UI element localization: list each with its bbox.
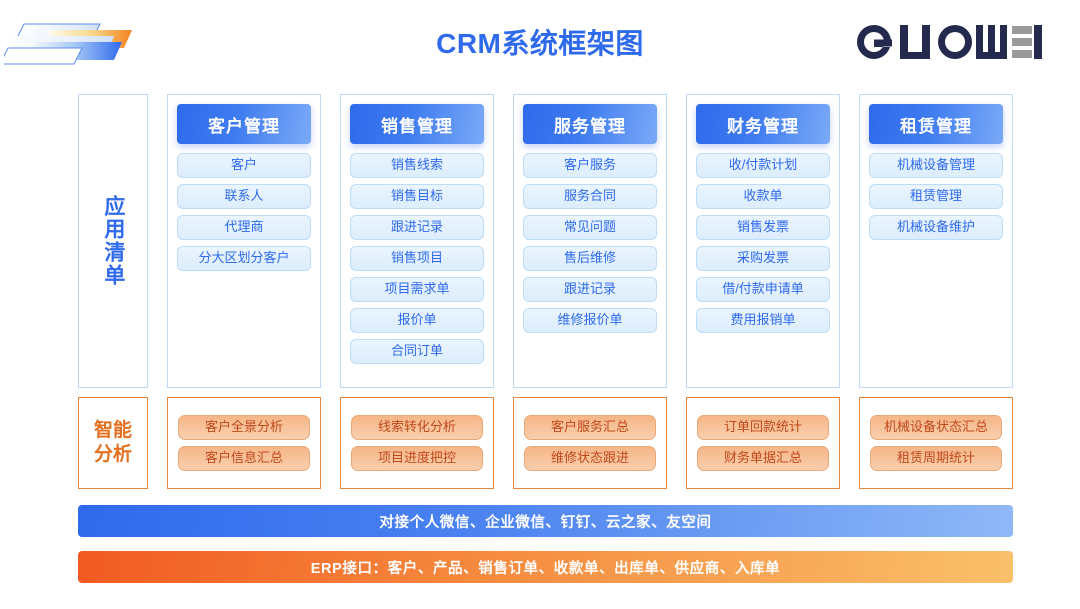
analysis-column-sales[interactable]: 线索转化分析 项目进度把控 xyxy=(340,397,494,489)
module-header-sales[interactable]: 销售管理 xyxy=(350,104,484,144)
corp-logo-guowei xyxy=(852,21,1044,63)
row-label-application-list: 应用清单 xyxy=(78,94,148,388)
smart-analysis-row: 智能 分析 客户全景分析 客户信息汇总 线索转化分析 项目进度把控 客户服务汇总… xyxy=(78,397,1013,489)
module-header-service[interactable]: 服务管理 xyxy=(523,104,657,144)
analysis-item[interactable]: 财务单据汇总 xyxy=(697,446,829,471)
module-item[interactable]: 费用报销单 xyxy=(696,308,830,333)
analysis-column-customer[interactable]: 客户全景分析 客户信息汇总 xyxy=(167,397,321,489)
module-column-customer[interactable]: 客户管理 客户 联系人 代理商 分大区划分客户 xyxy=(167,94,321,388)
module-item[interactable]: 销售目标 xyxy=(350,184,484,209)
framework-grid: 应用清单 客户管理 客户 联系人 代理商 分大区划分客户 销售管理 销售线索 销… xyxy=(78,94,1013,489)
module-column-finance[interactable]: 财务管理 收/付款计划 收款单 销售发票 采购发票 借/付款申请单 费用报销单 xyxy=(686,94,840,388)
module-item[interactable]: 收款单 xyxy=(696,184,830,209)
module-item[interactable]: 借/付款申请单 xyxy=(696,277,830,302)
module-item[interactable]: 收/付款计划 xyxy=(696,153,830,178)
analysis-item[interactable]: 订单回款统计 xyxy=(697,415,829,440)
analysis-item[interactable]: 项目进度把控 xyxy=(351,446,483,471)
module-item[interactable]: 联系人 xyxy=(177,184,311,209)
analysis-item[interactable]: 客户信息汇总 xyxy=(178,446,310,471)
module-item[interactable]: 跟进记录 xyxy=(523,277,657,302)
module-item[interactable]: 采购发票 xyxy=(696,246,830,271)
analysis-column-service[interactable]: 客户服务汇总 维修状态跟进 xyxy=(513,397,667,489)
module-item[interactable]: 销售发票 xyxy=(696,215,830,240)
module-item[interactable]: 机械设备维护 xyxy=(869,215,1003,240)
row-label-smart-analysis-text: 智能 分析 xyxy=(79,419,147,467)
banner-social-integrations: 对接个人微信、企业微信、钉钉、云之家、友空间 xyxy=(78,505,1013,537)
row-label-smart-analysis-line2: 分析 xyxy=(79,443,147,467)
module-item[interactable]: 跟进记录 xyxy=(350,215,484,240)
module-item[interactable]: 代理商 xyxy=(177,215,311,240)
analysis-item[interactable]: 租赁周期统计 xyxy=(870,446,1002,471)
module-item[interactable]: 报价单 xyxy=(350,308,484,333)
module-item[interactable]: 客户 xyxy=(177,153,311,178)
module-item[interactable]: 项目需求单 xyxy=(350,277,484,302)
crm-framework-diagram: CRM系统框架图 xyxy=(0,0,1080,609)
page-header: CRM系统框架图 xyxy=(0,0,1080,86)
module-item[interactable]: 合同订单 xyxy=(350,339,484,364)
analysis-item[interactable]: 机械设备状态汇总 xyxy=(870,415,1002,440)
banner-erp-interface: ERP接口：客户、产品、销售订单、收款单、出库单、供应商、入库单 xyxy=(78,551,1013,583)
row-label-smart-analysis: 智能 分析 xyxy=(78,397,148,489)
analysis-item[interactable]: 线索转化分析 xyxy=(351,415,483,440)
module-item[interactable]: 销售项目 xyxy=(350,246,484,271)
module-item[interactable]: 常见问题 xyxy=(523,215,657,240)
analysis-item[interactable]: 客户全景分析 xyxy=(178,415,310,440)
module-item[interactable]: 客户服务 xyxy=(523,153,657,178)
module-column-leasing[interactable]: 租赁管理 机械设备管理 租赁管理 机械设备维护 xyxy=(859,94,1013,388)
module-header-finance[interactable]: 财务管理 xyxy=(696,104,830,144)
module-item[interactable]: 机械设备管理 xyxy=(869,153,1003,178)
analysis-column-finance[interactable]: 订单回款统计 财务单据汇总 xyxy=(686,397,840,489)
module-item[interactable]: 维修报价单 xyxy=(523,308,657,333)
module-item[interactable]: 分大区划分客户 xyxy=(177,246,311,271)
module-column-service[interactable]: 服务管理 客户服务 服务合同 常见问题 售后维修 跟进记录 维修报价单 xyxy=(513,94,667,388)
application-list-row: 应用清单 客户管理 客户 联系人 代理商 分大区划分客户 销售管理 销售线索 销… xyxy=(78,94,1013,388)
analysis-column-leasing[interactable]: 机械设备状态汇总 租赁周期统计 xyxy=(859,397,1013,489)
module-column-sales[interactable]: 销售管理 销售线索 销售目标 跟进记录 销售项目 项目需求单 报价单 合同订单 xyxy=(340,94,494,388)
row-label-smart-analysis-line1: 智能 xyxy=(79,419,147,443)
module-item[interactable]: 租赁管理 xyxy=(869,184,1003,209)
module-item[interactable]: 销售线索 xyxy=(350,153,484,178)
module-header-customer[interactable]: 客户管理 xyxy=(177,104,311,144)
module-item[interactable]: 售后维修 xyxy=(523,246,657,271)
analysis-item[interactable]: 客户服务汇总 xyxy=(524,415,656,440)
analysis-item[interactable]: 维修状态跟进 xyxy=(524,446,656,471)
module-header-leasing[interactable]: 租赁管理 xyxy=(869,104,1003,144)
module-item[interactable]: 服务合同 xyxy=(523,184,657,209)
row-label-application-list-text: 应用清单 xyxy=(99,195,127,287)
